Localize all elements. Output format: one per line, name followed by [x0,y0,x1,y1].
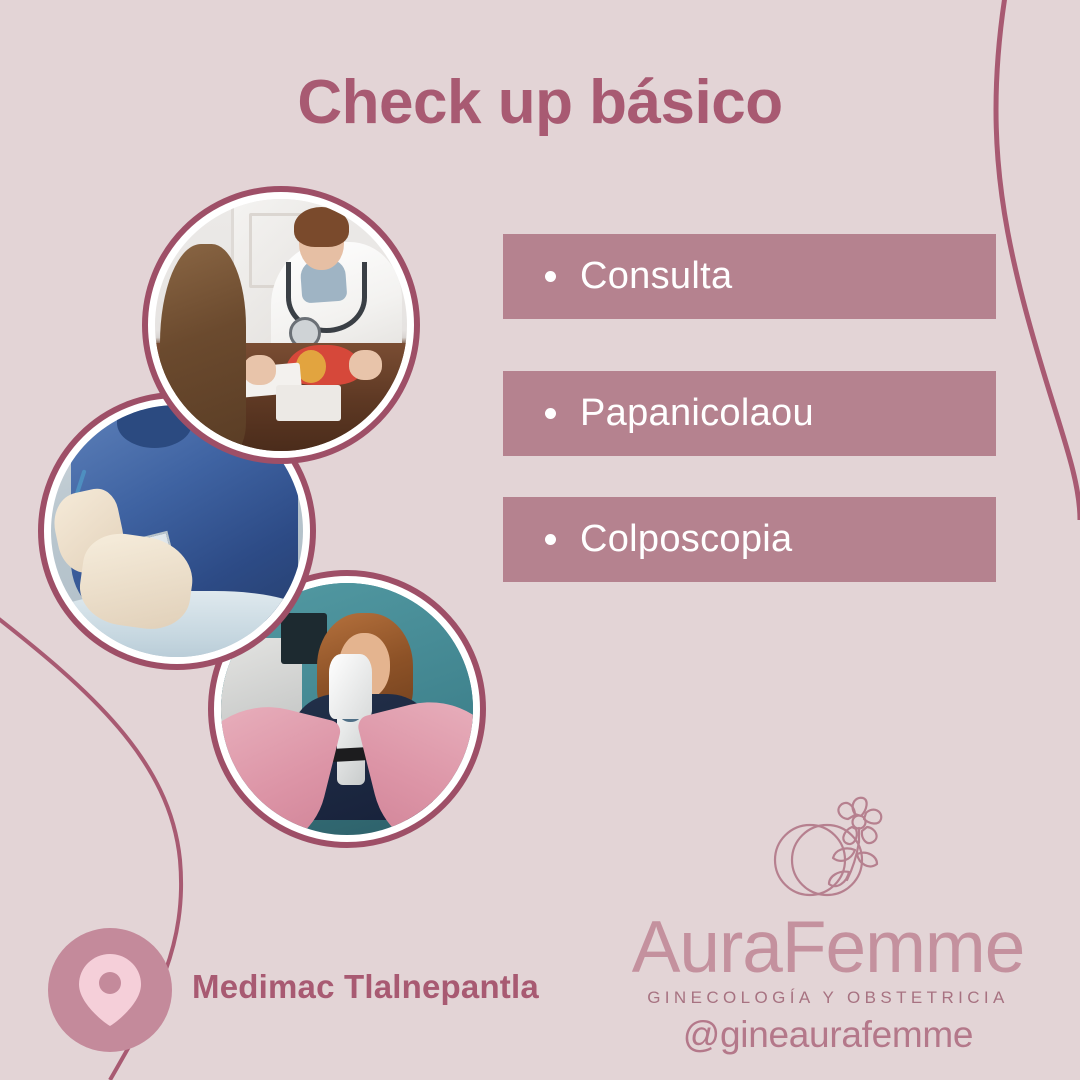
service-item-papanicolaou[interactable]: Papanicolaou [503,371,996,456]
bullet-dot-icon [545,534,556,545]
bullet-dot-icon [545,271,556,282]
logo-tagline: GINECOLOGÍA Y OBSTETRICIA [608,988,1048,1008]
service-label: Consulta [580,255,732,298]
page-title: Check up básico [0,70,1080,135]
social-handle: @gineaurafemme [608,1014,1048,1056]
poster-canvas: Check up básico [0,0,1080,1080]
brand-logo: AuraFemme GINECOLOGÍA Y OBSTETRICIA [608,792,1048,1008]
logo-wordmark: AuraFemme [608,912,1048,984]
moon-flower-logo-icon [763,792,893,910]
service-item-colposcopia[interactable]: Colposcopia [503,497,996,582]
location-label: Medimac Tlalnepantla [192,968,539,1006]
location-pin-icon [79,954,141,1026]
service-label: Colposcopia [580,518,792,561]
location-badge [48,928,172,1052]
bullet-dot-icon [545,408,556,419]
service-label: Papanicolaou [580,392,814,435]
service-item-consulta[interactable]: Consulta [503,234,996,319]
consulta-photo [142,186,420,464]
